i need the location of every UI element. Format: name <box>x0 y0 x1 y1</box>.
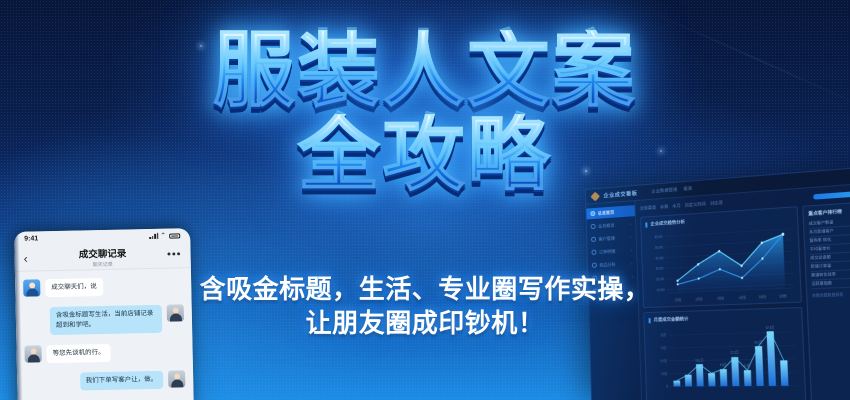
svg-text:2.5万: 2.5万 <box>661 372 668 377</box>
chat-message-row: 成交聊天们，说 <box>23 276 183 297</box>
chat-bubble: 等您先谈机的行。 <box>46 344 110 363</box>
filter-custom-range[interactable]: 自定义时间 <box>685 201 706 209</box>
sidebar-item-label: 客户管理 <box>598 235 615 242</box>
filter-month[interactable]: 本月 <box>672 203 680 210</box>
stat-label: 成交总金额 <box>810 255 831 261</box>
accent-bar-icon <box>645 222 647 227</box>
sidebar-item-orders[interactable]: 订单明细 › <box>587 244 636 258</box>
filter-channel[interactable]: 全部渠道 <box>640 205 656 212</box>
stat-label: 平均客单价 <box>810 246 831 252</box>
chevron-right-icon: › <box>631 248 633 253</box>
avatar <box>168 371 185 388</box>
avatar <box>23 279 40 296</box>
chat-bubble: 含吸金标题写生活，当前店铺记录超到和学吧。 <box>50 305 163 335</box>
avatar <box>167 304 184 321</box>
chevron-right-icon: › <box>630 235 632 240</box>
sidebar-item-label: 总览首页 <box>598 209 615 216</box>
svg-text:40.5万: 40.5万 <box>754 341 763 346</box>
sidebar-item-business[interactable]: 业务概览 › <box>587 218 636 232</box>
chat-bubble: 我们下单写客户让，做。 <box>80 371 164 391</box>
svg-text:7.5万: 7.5万 <box>660 346 667 351</box>
svg-text:60,000: 60,000 <box>655 234 664 239</box>
sidebar-item-label: 业务概览 <box>598 222 615 229</box>
chat-message-row: 我们下单写客户让，做。 <box>25 371 185 392</box>
phone-mockup: 9:41 ⌃ ‹ 成交聊记录 聊天记录 ••• 成交聊天们，说 含吸金标题写生活… <box>14 228 194 400</box>
chat-message-row: 等您先谈机的行。 <box>24 343 184 364</box>
chevron-right-icon: › <box>631 261 633 266</box>
stat-label: 成交客户数量 <box>809 220 834 227</box>
sidebar-item-products[interactable]: 商品分析 › <box>588 258 637 272</box>
box-icon <box>592 263 597 268</box>
phone-nav-bar: ‹ 成交聊记录 聊天记录 ••• <box>14 242 191 272</box>
users-icon <box>591 237 596 242</box>
stat-label: 新增订单量 <box>811 263 832 269</box>
svg-text:30,000: 30,000 <box>656 266 665 271</box>
filter-compare[interactable]: 对比项 <box>710 200 723 207</box>
svg-text:40,000: 40,000 <box>655 255 664 260</box>
line-chart-title: 企业成交趋势分析 <box>650 219 685 227</box>
headline-line-1: 服装人文案 <box>0 30 850 112</box>
filter-week[interactable]: 本周 <box>660 204 668 211</box>
phone-nav-titles: 成交聊记录 聊天记录 <box>14 244 190 270</box>
svg-text:8.6万: 8.6万 <box>720 363 727 368</box>
headline-group: 服装人文案 全攻略 <box>0 30 850 196</box>
chat-bubble: 成交聊天们，说 <box>45 278 103 297</box>
stat-label: 复购率 转化 <box>809 237 831 244</box>
signal-bars-icon <box>149 233 158 239</box>
status-time: 9:41 <box>24 235 38 242</box>
bar-chart-y-axis: 10万 7.5万 5.0万 2.5万 0 <box>660 333 669 389</box>
battery-icon <box>169 233 180 238</box>
list-icon <box>591 250 596 255</box>
sidebar-item-label: 商品分析 <box>599 261 616 268</box>
right-panel-title: 重点客户排行榜 <box>808 207 850 217</box>
status-icon-group: ⌃ <box>149 233 180 239</box>
chat-message-row: 含吸金标题写生活，当前店铺记录超到和学吧。 <box>24 304 185 335</box>
sidebar-item-overview[interactable]: 总览首页 <box>586 205 635 219</box>
svg-text:22.3万: 22.3万 <box>730 351 739 356</box>
chevron-right-icon: › <box>630 221 632 226</box>
avatar <box>24 346 41 363</box>
svg-text:5.0万: 5.0万 <box>661 359 668 364</box>
headline-line-2: 全攻略 <box>0 114 850 196</box>
poster-canvas: 服装人文案 全攻略 含吸金标题，生活、专业圈写作实操， 让朋友圈成印钞机！ 9:… <box>0 0 850 400</box>
ellipsis-icon[interactable]: ••• <box>167 249 182 260</box>
chart-icon <box>591 224 596 229</box>
svg-text:8.4万: 8.4万 <box>744 364 751 369</box>
svg-text:50,000: 50,000 <box>655 245 664 250</box>
sidebar-item-customers[interactable]: 客户管理 › <box>587 231 636 245</box>
sidebar-item-label: 订单明细 <box>599 248 616 255</box>
svg-text:0: 0 <box>666 385 668 390</box>
stat-label: 本月新增客户 <box>809 229 834 236</box>
svg-text:16.1万: 16.1万 <box>695 358 703 363</box>
chat-message-list: 成交聊天们，说 含吸金标题写生活，当前店铺记录超到和学吧。 等您先谈机的行。 我… <box>15 268 194 400</box>
wifi-icon: ⌃ <box>160 233 167 238</box>
grid-icon <box>590 211 595 216</box>
